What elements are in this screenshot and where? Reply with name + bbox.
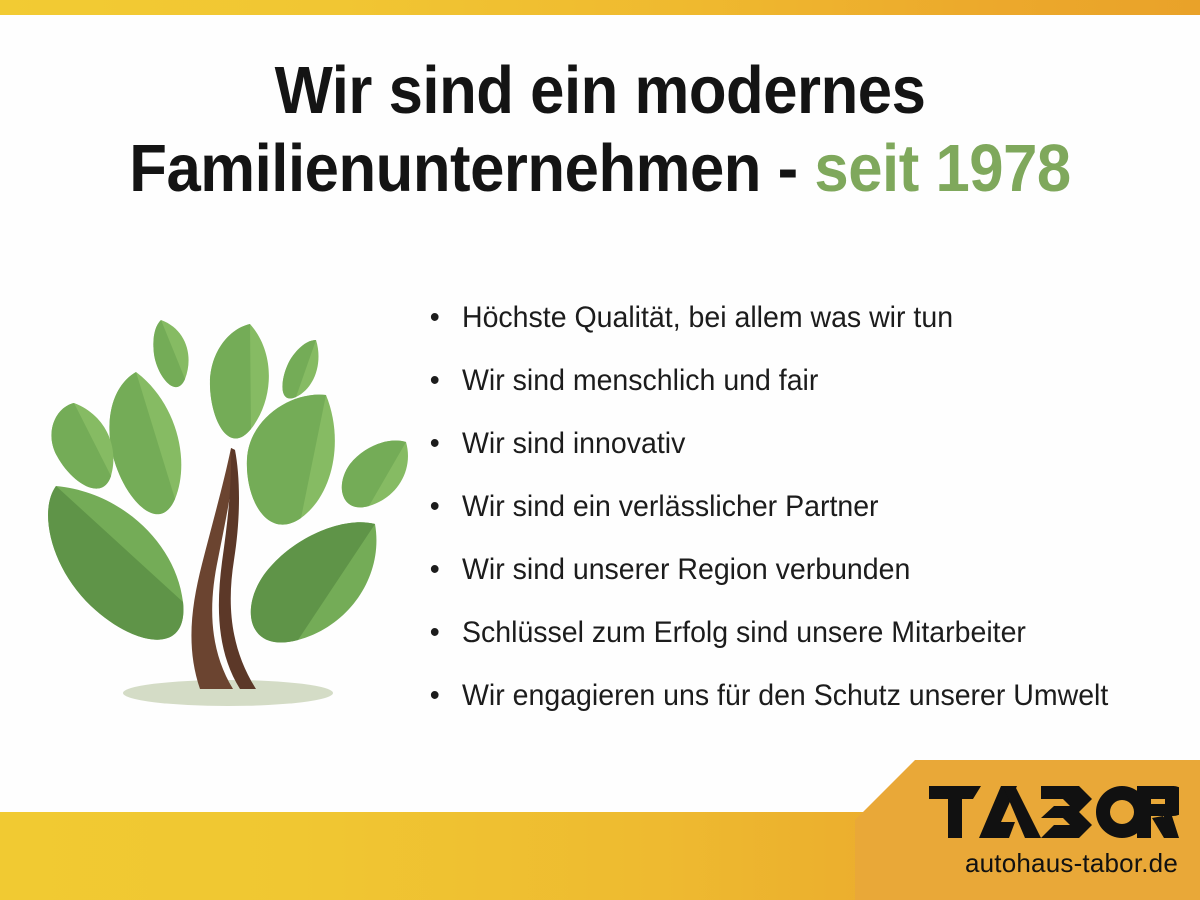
list-item-label: Wir engagieren uns für den Schutz unsere… — [462, 679, 1108, 712]
page-title-line-2-plain: Familienunternehmen - — [129, 131, 814, 206]
list-item: •Wir sind unserer Region verbunden — [424, 538, 1156, 601]
leaf-top-small-left — [153, 320, 188, 387]
page-title: Wir sind ein modernes Familienunternehme… — [48, 52, 1152, 208]
leaf-lower-right — [251, 522, 377, 642]
list-item: •Schlüssel zum Erfolg sind unsere Mitarb… — [424, 601, 1156, 664]
tree-illustration-svg — [28, 296, 428, 716]
leaf-far-right — [342, 441, 408, 508]
list-item-label: Höchste Qualität, bei allem was wir tun — [462, 301, 953, 334]
bullet-marker: • — [430, 475, 440, 538]
list-item-label: Schlüssel zum Erfolg sind unsere Mitarbe… — [462, 616, 1026, 649]
page-title-accent: seit 1978 — [814, 131, 1070, 206]
list-item-label: Wir sind innovativ — [462, 427, 685, 460]
tree-icon — [28, 296, 428, 716]
website-url[interactable]: autohaus-tabor.de — [855, 848, 1178, 879]
list-item: •Wir engagieren uns für den Schutz unser… — [424, 664, 1156, 727]
leaf-far-left — [52, 403, 114, 489]
bullet-marker: • — [430, 349, 440, 412]
leaf-top-small-right — [282, 340, 318, 398]
tabor-wordmark-svg — [929, 786, 1179, 838]
list-item: •Wir sind innovativ — [424, 412, 1156, 475]
values-list: •Höchste Qualität, bei allem was wir tun… — [424, 286, 1194, 727]
bullet-marker: • — [430, 601, 440, 664]
bullet-marker: • — [430, 538, 440, 601]
list-item: •Wir sind menschlich und fair — [424, 349, 1156, 412]
leaf-upper-left — [109, 372, 181, 514]
top-accent-bar — [0, 0, 1200, 15]
slide-root: Wir sind ein modernes Familienunternehme… — [0, 0, 1200, 900]
list-item-label: Wir sind menschlich und fair — [462, 364, 818, 397]
page-title-line-1: Wir sind ein modernes — [48, 52, 1152, 130]
tree-trunk — [191, 448, 256, 689]
list-item-label: Wir sind unserer Region verbunden — [462, 553, 910, 586]
bullet-marker: • — [430, 286, 440, 349]
bullet-marker: • — [430, 412, 440, 475]
leaf-top-center — [210, 324, 269, 438]
bullet-marker: • — [430, 664, 440, 727]
list-item: •Wir sind ein verlässlicher Partner — [424, 475, 1156, 538]
tabor-wordmark — [929, 786, 1179, 838]
brand-logo-panel[interactable]: autohaus-tabor.de — [855, 760, 1200, 900]
page-title-line-2: Familienunternehmen - seit 1978 — [48, 130, 1152, 208]
list-item: •Höchste Qualität, bei allem was wir tun — [424, 286, 1156, 349]
list-item-label: Wir sind ein verlässlicher Partner — [462, 490, 879, 523]
